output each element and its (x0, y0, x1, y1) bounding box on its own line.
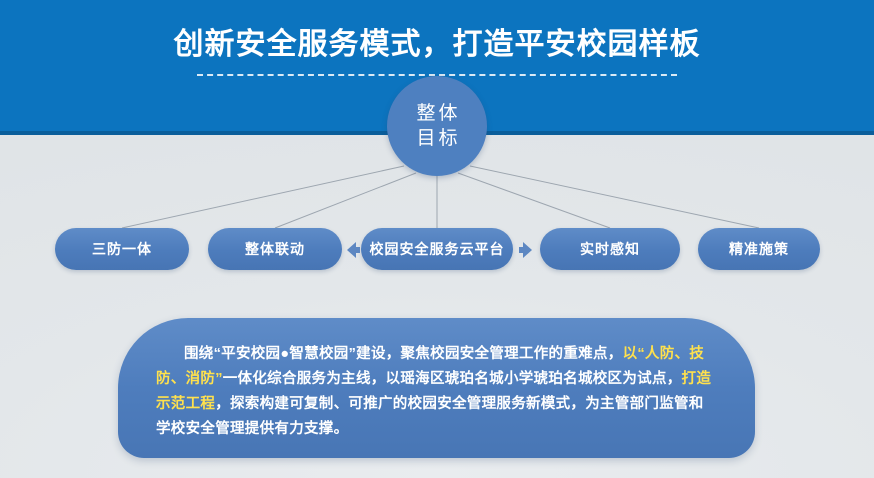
arrow-left-icon (344, 240, 364, 260)
overall-goal-label-line1: 整体 (413, 101, 460, 126)
description-text: 围绕“平安校园●智慧校园”建设，聚焦校园安全管理工作的重难点，以“人防、技防、消… (156, 342, 717, 442)
description-segment: ，探索构建可复制、可推广的校园安全管理服务新模式，为主管部门监管和学校安全管理提… (156, 396, 704, 437)
flow-item-cloud-platform[interactable]: 校园安全服务云平台 (361, 228, 513, 270)
flow-item-jing-zhun-shi-ce[interactable]: 精准施策 (698, 228, 820, 270)
flow-item-label: 校园安全服务云平台 (370, 239, 505, 259)
description-segment: 一体化综合服务为主线，以瑶海区琥珀名城小学琥珀名城校区为试点， (223, 371, 682, 387)
flow-item-label: 精准施策 (729, 239, 789, 259)
flow-item-zheng-ti-lian-dong[interactable]: 整体联动 (208, 228, 342, 270)
overall-goal-label-line2: 目标 (413, 126, 460, 151)
flow-item-label: 三防一体 (92, 239, 152, 259)
flow-item-shi-shi-gan-zhi[interactable]: 实时感知 (540, 228, 680, 270)
flow-item-label: 整体联动 (245, 239, 305, 259)
overall-goal-node[interactable]: 整体 目标 (387, 76, 487, 176)
description-segment: 围绕“平安校园●智慧校园”建设，聚焦校园安全管理工作的重难点， (184, 346, 623, 362)
arrow-right-icon (515, 240, 535, 260)
description-panel: 围绕“平安校园●智慧校园”建设，聚焦校园安全管理工作的重难点，以“人防、技防、消… (118, 318, 755, 458)
flow-item-san-fang-yi-ti[interactable]: 三防一体 (55, 228, 189, 270)
slide-canvas: 创新安全服务模式，打造平安校园样板 整体 目标 三防一体 整体联动 校园安全服务… (0, 0, 874, 478)
flow-item-label: 实时感知 (580, 239, 640, 259)
